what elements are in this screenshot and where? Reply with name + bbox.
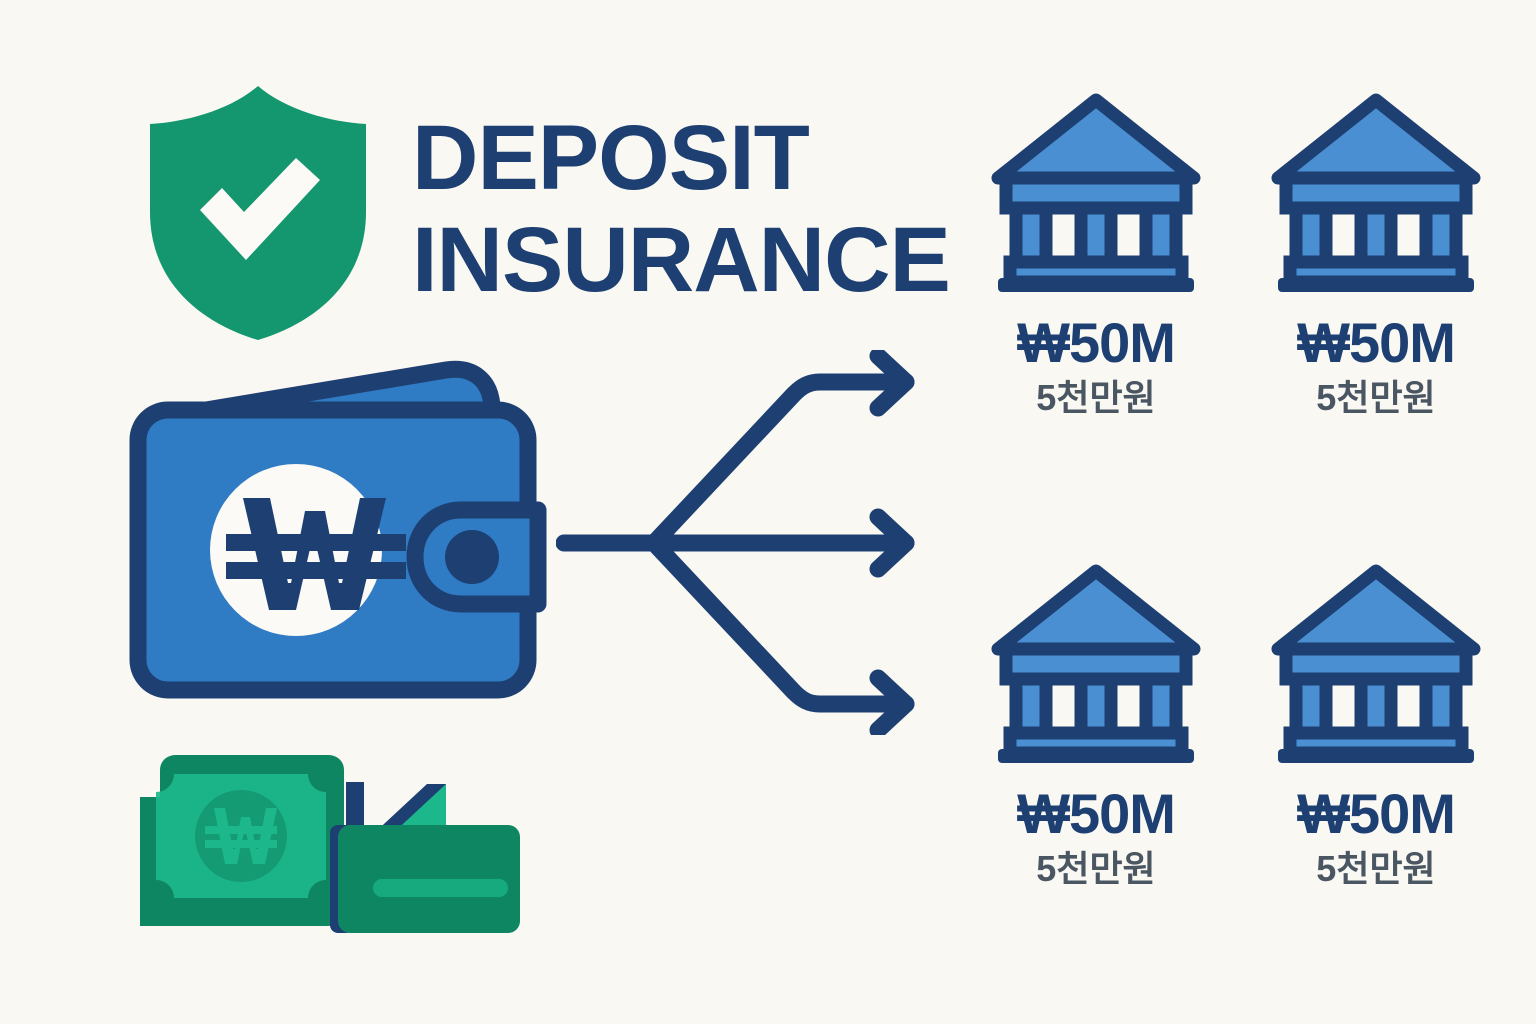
bank-building-icon <box>1270 557 1482 769</box>
amount-value-korean: 5천만원 <box>1036 376 1155 420</box>
bank-cell-top-right: ₩50M 5천만원 <box>1246 86 1506 455</box>
amount-value-korean: 5천만원 <box>1036 847 1155 891</box>
title-line-1: DEPOSIT <box>412 112 972 204</box>
wallet-won-icon <box>128 358 558 703</box>
bank-building-icon <box>1270 86 1482 298</box>
bank-labels: ₩50M 5천만원 <box>1297 785 1455 891</box>
amount-value: ₩50M <box>1017 785 1175 843</box>
bank-cell-top-left: ₩50M 5천만원 <box>966 86 1226 455</box>
bank-grid: ₩50M 5천만원 ₩50M 5천만원 <box>966 86 1506 926</box>
bank-building-icon <box>990 557 1202 769</box>
amount-value-korean: 5천만원 <box>1316 847 1435 891</box>
shield-check-icon <box>138 80 378 345</box>
title-line-2: INSURANCE <box>412 214 972 306</box>
bank-labels: ₩50M 5천만원 <box>1017 314 1175 420</box>
amount-value-korean: 5천만원 <box>1316 376 1435 420</box>
banknote-cardholder-icon <box>130 752 530 952</box>
amount-value: ₩50M <box>1017 314 1175 372</box>
infographic-canvas: DEPOSIT INSURANCE <box>0 0 1536 1024</box>
branching-arrow-icon <box>556 350 946 735</box>
amount-value: ₩50M <box>1297 314 1455 372</box>
bank-cell-bottom-left: ₩50M 5천만원 <box>966 557 1226 926</box>
bank-labels: ₩50M 5천만원 <box>1297 314 1455 420</box>
bank-labels: ₩50M 5천만원 <box>1017 785 1175 891</box>
amount-value: ₩50M <box>1297 785 1455 843</box>
page-title: DEPOSIT INSURANCE <box>412 112 972 306</box>
bank-cell-bottom-right: ₩50M 5천만원 <box>1246 557 1506 926</box>
bank-building-icon <box>990 86 1202 298</box>
